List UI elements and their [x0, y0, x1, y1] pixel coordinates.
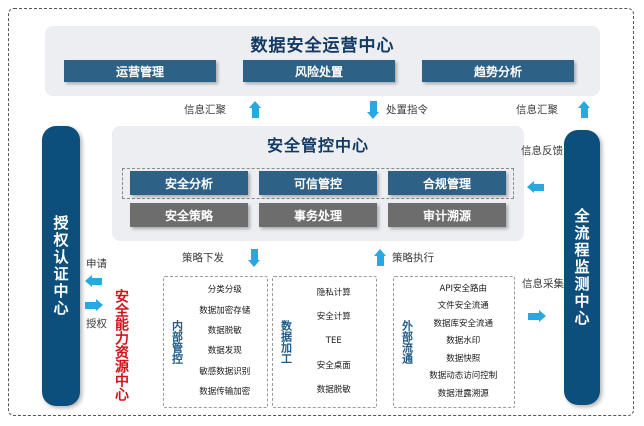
management-center-title: 安全管控中心 [112, 126, 524, 156]
flow-label-info-collect: 信息采集 [522, 278, 556, 290]
mgmt-chip-trusted-control[interactable]: 可信管控 [259, 171, 377, 195]
mgmt-chip-security-analysis[interactable]: 安全分析 [130, 171, 248, 195]
arrow-right-info-collect [528, 310, 546, 323]
arrow-left-apply [85, 275, 103, 288]
cap-item: 数据水印 [446, 337, 480, 346]
cap-item: 数据脱敏 [208, 327, 242, 336]
flow-label-apply: 申请 [86, 258, 107, 270]
cap-item: 敏感数据识别 [199, 368, 250, 377]
cap-item: 数据传输加密 [199, 388, 250, 397]
arrow-right-authorize [85, 299, 103, 312]
cap-item: 文件安全流通 [438, 302, 489, 311]
cap-item: 数据发现 [208, 347, 242, 356]
ops-chip-trend-analysis[interactable]: 趋势分析 [422, 60, 574, 82]
mgmt-chip-audit-tracing[interactable]: 审计溯源 [388, 203, 506, 227]
capability-items-external-circulation: API安全路由 文件安全流通 数据库安全流通 数据水印 数据快照 数据动态访问控… [413, 277, 514, 407]
cap-item: 安全桌面 [317, 362, 351, 371]
pillar-authorization-certification-center[interactable]: 授权认证中心 [42, 126, 80, 406]
capability-label-data-processing: 数据加工 [280, 320, 292, 364]
flow-label-policy-dispatch: 策略下发 [182, 252, 224, 264]
ops-chip-operations-management[interactable]: 运营管理 [64, 60, 216, 82]
arrow-down-policy-dispatch [248, 249, 261, 267]
flow-label-info-aggregate-left: 信息汇聚 [184, 104, 226, 116]
mgmt-chip-compliance-management[interactable]: 合规管理 [388, 171, 506, 195]
diagram-canvas: 数据安全运营中心 运营管理 风险处置 趋势分析 信息汇聚 处置指令 信息汇聚 安… [0, 0, 644, 426]
flow-label-dispatch-command: 处置指令 [386, 104, 428, 116]
cap-item: 数据泄露溯源 [438, 390, 489, 399]
cap-item: 分类分级 [208, 286, 242, 295]
cap-item: 安全计算 [317, 313, 351, 322]
flow-label-authorize: 授权 [86, 318, 107, 330]
capability-items-internal-control: 分类分级 数据加密存储 数据脱敏 数据发现 敏感数据识别 数据传输加密 [183, 277, 267, 407]
mgmt-chip-transaction-processing[interactable]: 事务处理 [259, 203, 377, 227]
arrow-down-dispatch-command [367, 101, 380, 119]
mgmt-chip-security-policy[interactable]: 安全策略 [130, 203, 248, 227]
cap-item: 数据动态访问控制 [429, 372, 497, 381]
cap-item: 数据库安全流通 [434, 320, 494, 329]
capability-label-external-circulation: 外部流通 [401, 320, 413, 364]
cap-item: 数据脱敏 [317, 386, 351, 395]
security-capability-resource-center-label: 安全能力资源中心 [108, 282, 134, 408]
capability-items-data-processing: 隐私计算 安全计算 TEE 安全桌面 数据脱敏 [292, 277, 376, 407]
flow-label-info-feedback: 信息反馈 [521, 145, 555, 157]
capability-box-external-circulation[interactable]: 外部流通 API安全路由 文件安全流通 数据库安全流通 数据水印 数据快照 数据… [393, 276, 515, 408]
ops-chip-risk-handling[interactable]: 风险处置 [243, 60, 395, 82]
operations-center-title: 数据安全运营中心 [45, 26, 600, 56]
flow-label-policy-execute: 策略执行 [392, 252, 434, 264]
arrow-up-info-aggregate-left [249, 101, 262, 119]
flow-label-info-aggregate-right: 信息汇聚 [516, 104, 558, 116]
cap-item: API安全路由 [440, 285, 487, 294]
pillar-full-process-monitoring-center[interactable]: 全流程监测中心 [564, 130, 600, 405]
capability-box-internal-control[interactable]: 内部管控 分类分级 数据加密存储 数据脱敏 数据发现 敏感数据识别 数据传输加密 [163, 276, 268, 408]
capability-label-internal-control: 内部管控 [171, 320, 183, 364]
cap-item: TEE [326, 337, 342, 346]
cap-item: 数据加密存储 [199, 307, 250, 316]
capability-box-data-processing[interactable]: 数据加工 隐私计算 安全计算 TEE 安全桌面 数据脱敏 [272, 276, 377, 408]
arrow-left-info-feedback [527, 181, 545, 194]
arrow-up-policy-execute [374, 249, 387, 267]
cap-item: 隐私计算 [317, 289, 351, 298]
arrow-up-info-aggregate-right [578, 101, 591, 119]
cap-item: 数据快照 [446, 355, 480, 364]
